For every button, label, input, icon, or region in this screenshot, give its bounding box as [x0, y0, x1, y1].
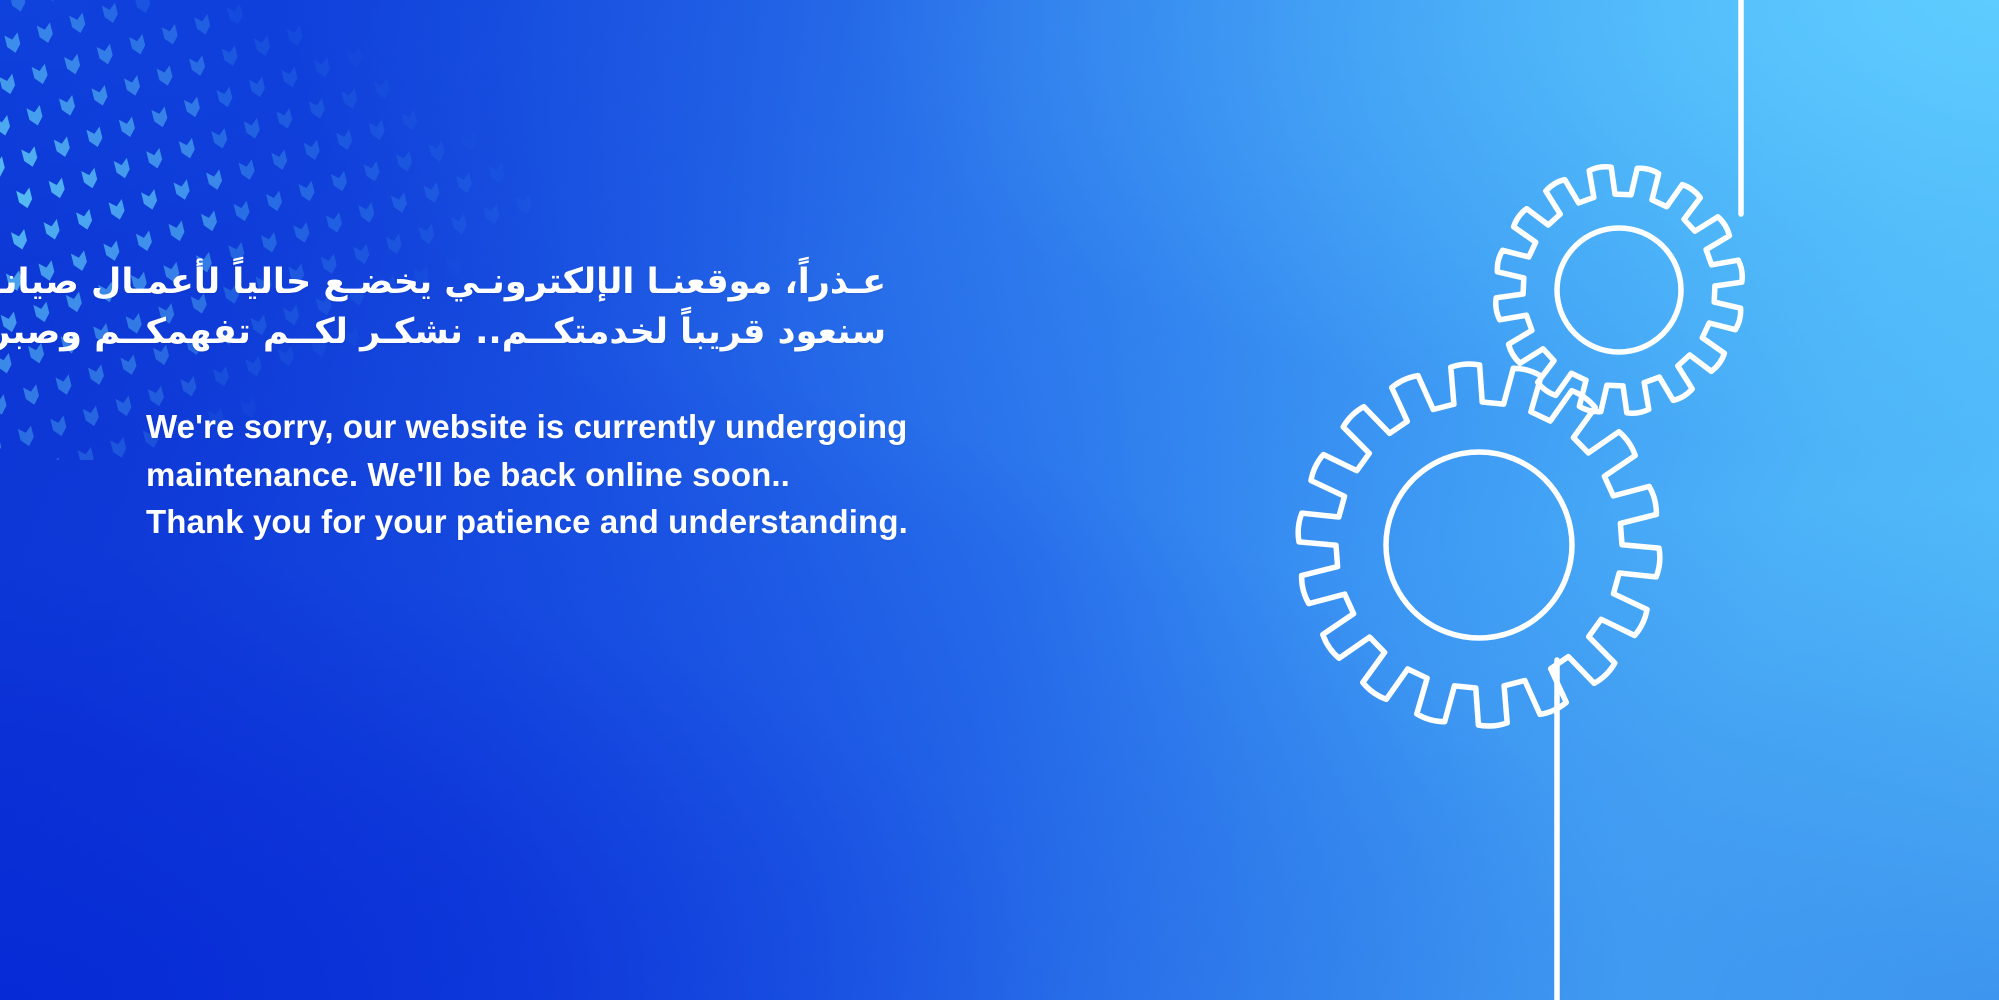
english-line-2: maintenance. We'll be back online soon..: [146, 451, 906, 499]
english-message: We're sorry, our website is currently un…: [146, 403, 906, 546]
message-block: عـذراً، موقعنـا الإلكترونـي يخضـع حالياً…: [146, 258, 1146, 546]
arabic-line-1: عـذراً، موقعنـا الإلكترونـي يخضـع حالياً…: [146, 258, 886, 308]
english-line-1: We're sorry, our website is currently un…: [146, 403, 906, 451]
english-line-3: Thank you for your patience and understa…: [146, 498, 906, 546]
arabic-message: عـذراً، موقعنـا الإلكترونـي يخضـع حالياً…: [146, 258, 886, 357]
maintenance-page: عـذراً، موقعنـا الإلكترونـي يخضـع حالياً…: [0, 0, 1999, 1000]
arabic-line-2: سنعود قريباً لخدمتكــم.. نشكـر لكــم تفه…: [146, 308, 886, 358]
